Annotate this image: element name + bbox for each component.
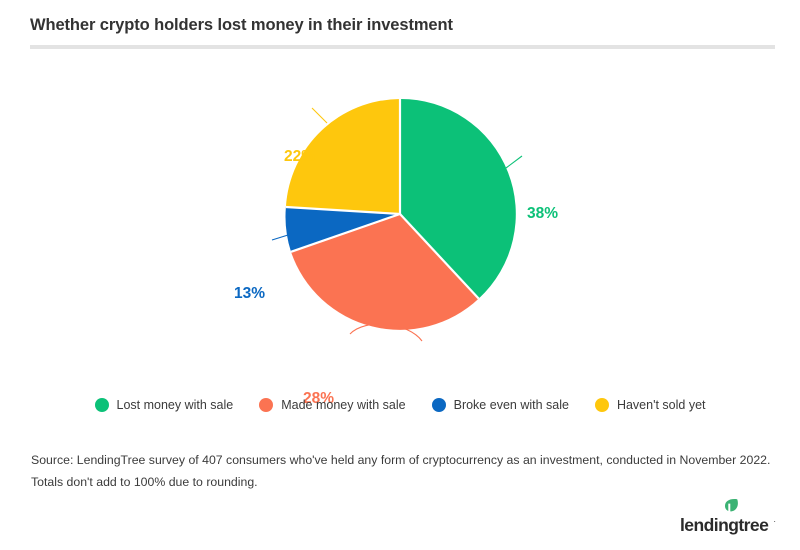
source-note: Source: LendingTree survey of 407 consum…: [31, 450, 771, 493]
legend-swatch-icon: [432, 398, 446, 412]
logo-wordmark: lendingtree: [680, 515, 768, 536]
legend-item-label: Made money with sale: [281, 398, 405, 412]
legend-item-label: Haven't sold yet: [617, 398, 706, 412]
legend-item-broke-even[interactable]: Broke even with sale: [432, 398, 569, 412]
lendingtree-logo: lendingtree ·: [680, 496, 776, 536]
legend-item-label: Lost money with sale: [117, 398, 234, 412]
pie-chart: 38% 28% 13% 22%: [0, 60, 800, 370]
leader-line-38: [506, 156, 522, 168]
logo-trademark: ·: [773, 517, 776, 526]
page-title: Whether crypto holders lost money in the…: [30, 16, 453, 35]
title-divider: [30, 45, 775, 49]
chart-legend: Lost money with sale Made money with sal…: [0, 390, 800, 420]
legend-item-lost-money[interactable]: Lost money with sale: [95, 398, 234, 412]
legend-swatch-icon: [95, 398, 109, 412]
pie-label-havent-sold: 22%: [284, 148, 315, 166]
pie-label-lost-money: 38%: [527, 205, 558, 223]
legend-swatch-icon: [595, 398, 609, 412]
leader-line-22: [312, 108, 327, 123]
legend-item-havent-sold[interactable]: Haven't sold yet: [595, 398, 706, 412]
pie-label-broke-even: 13%: [234, 285, 265, 303]
legend-swatch-icon: [259, 398, 273, 412]
leaf-icon: [724, 498, 739, 514]
leader-line-13: [272, 235, 288, 240]
pie-chart-svg: [0, 60, 800, 370]
legend-item-label: Broke even with sale: [454, 398, 569, 412]
legend-item-made-money[interactable]: Made money with sale: [259, 398, 405, 412]
